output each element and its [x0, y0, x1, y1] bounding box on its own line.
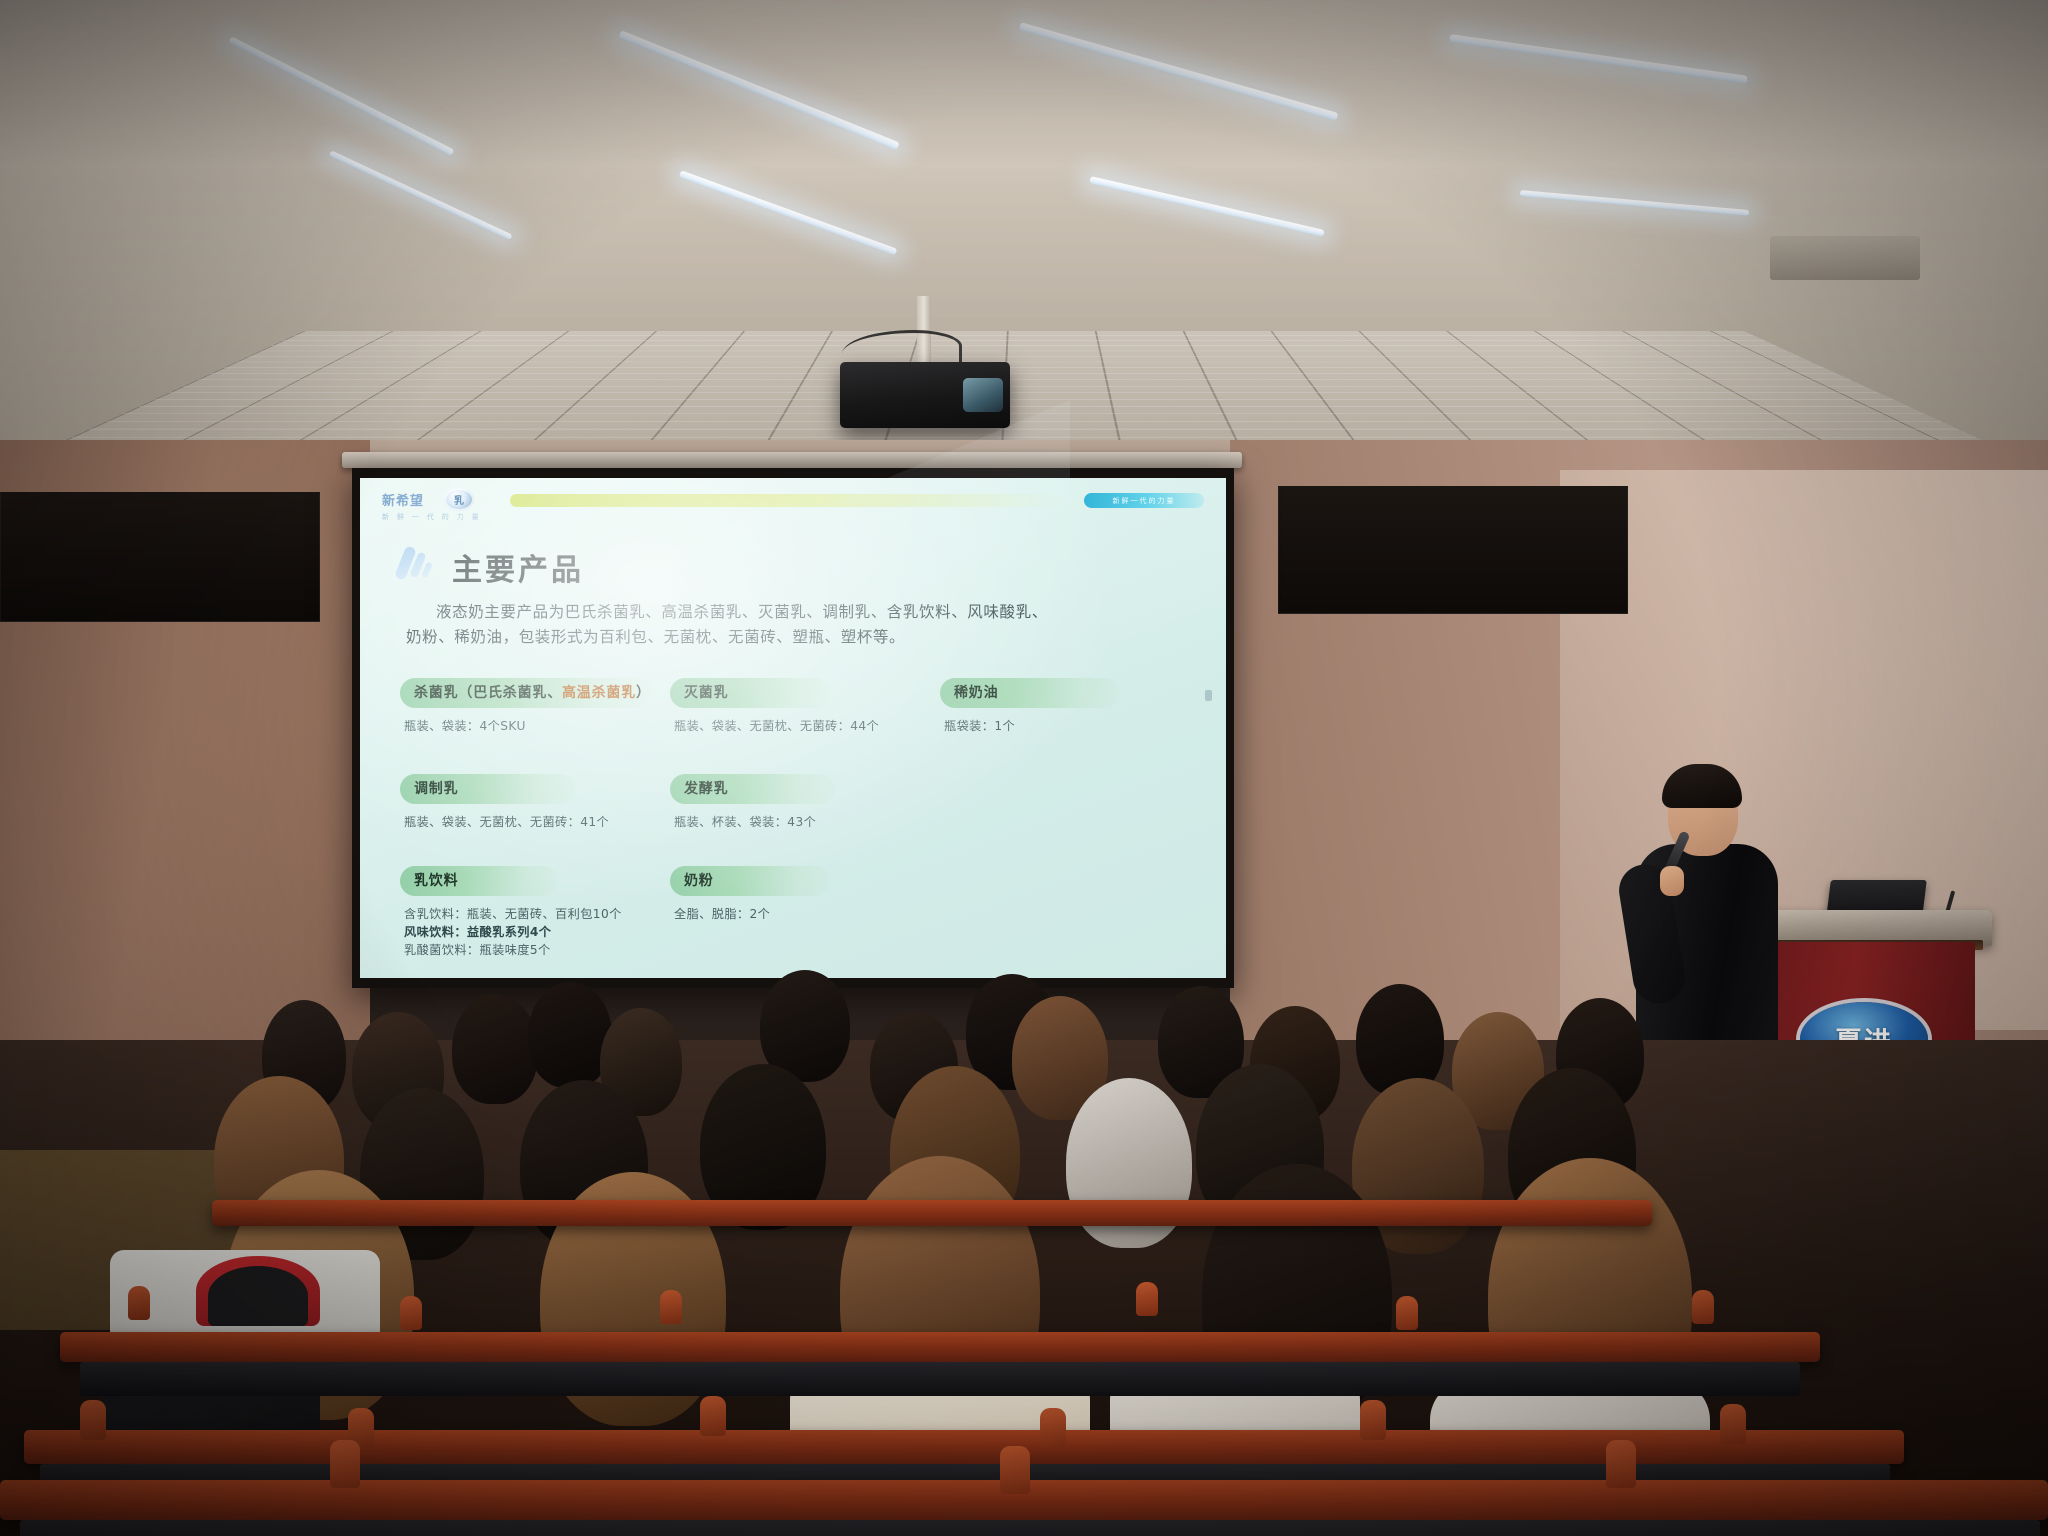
- product-details: 含乳饮料：瓶装、无菌砖、百利包10个 风味饮料：益酸乳系列4个 乳酸菌饮料：瓶装…: [400, 906, 652, 959]
- draped-sweatshirt-hood-inner: [208, 1266, 308, 1326]
- paragraph-line-2: 奶粉、稀奶油，包装形式为百利包、无菌枕、无菌砖、塑瓶、塑杯等。: [406, 628, 905, 646]
- seat-armrest-knob: [1136, 1282, 1158, 1316]
- product-card-uht-milk: 灭菌乳 瓶装、袋装、无菌枕、无菌砖：44个: [670, 678, 920, 736]
- product-detail-line: 瓶装、袋装：4个SKU: [404, 718, 652, 736]
- seat-armrest-knob: [1692, 1290, 1714, 1324]
- seat-armrest-knob: [1606, 1440, 1636, 1488]
- product-chip: 调制乳: [400, 774, 575, 804]
- seat-armrest-knob: [1360, 1400, 1386, 1440]
- seat-armrest-knob: [400, 1296, 422, 1330]
- product-detail-line: 含乳饮料：瓶装、无菌砖、百利包10个: [404, 906, 652, 924]
- product-grid: 杀菌乳（巴氏杀菌乳、高温杀菌乳） 瓶装、袋装：4个SKU 灭菌乳 瓶装、袋装、无…: [400, 678, 1200, 976]
- product-details: 全脂、脱脂：2个: [670, 906, 920, 924]
- product-details: 瓶装、袋装、无菌枕、无菌砖：41个: [400, 814, 652, 832]
- seat-armrest-knob: [1396, 1296, 1418, 1330]
- slide-title-row: 主要产品: [394, 544, 584, 590]
- slide-header-accent-bar: [510, 494, 1070, 507]
- projector-lens: [963, 378, 1003, 412]
- slide-title: 主要产品: [452, 545, 584, 589]
- product-chip: 发酵乳: [670, 774, 835, 804]
- product-detail-line: 瓶装、袋装、无菌枕、无菌砖：44个: [674, 718, 920, 736]
- slide-header-badge: 新鲜一代的力量: [1084, 493, 1204, 508]
- product-detail-line: 瓶装、袋装、无菌枕、无菌砖：41个: [404, 814, 652, 832]
- chip-prefix: 杀菌乳（巴氏杀菌乳、: [414, 685, 562, 701]
- ceiling-shading: [0, 0, 2048, 470]
- seat-row: [60, 1332, 1820, 1362]
- product-chip: 稀奶油: [940, 678, 1120, 708]
- audience-area: [0, 960, 2048, 1536]
- product-detail-line: 瓶袋装：1个: [944, 718, 1190, 736]
- seat-armrest-knob: [660, 1290, 682, 1324]
- brand-roundel-icon: 乳: [444, 488, 474, 511]
- presenter-hand: [1660, 866, 1684, 896]
- product-card-milk-beverage: 乳饮料 含乳饮料：瓶装、无菌砖、百利包10个 风味饮料：益酸乳系列4个 乳酸菌饮…: [400, 866, 652, 959]
- slide-edge-marker: [1205, 690, 1212, 701]
- product-chip: 杀菌乳（巴氏杀菌乳、高温杀菌乳）: [400, 678, 652, 708]
- brand-logo: 新希望 新 鲜 一 代 的 力 量 乳: [382, 488, 502, 528]
- product-card-modified-milk: 调制乳 瓶装、袋装、无菌枕、无菌砖：41个: [400, 774, 652, 832]
- lecture-hall-photo: 新希望 新 鲜 一 代 的 力 量 乳 新鲜一代的力量 主要产品 液态奶主要产品…: [0, 0, 2048, 1536]
- seat-cushion: [20, 1520, 2040, 1536]
- projected-slide: 新希望 新 鲜 一 代 的 力 量 乳 新鲜一代的力量 主要产品 液态奶主要产品…: [360, 478, 1226, 978]
- audience-member: [452, 994, 538, 1104]
- brand-name-cn: 新希望: [382, 490, 424, 509]
- product-card-sterilized-milk: 杀菌乳（巴氏杀菌乳、高温杀菌乳） 瓶装、袋装：4个SKU: [400, 678, 652, 736]
- product-detail-line: 乳酸菌饮料：瓶装味度5个: [404, 942, 652, 960]
- product-card-cream: 稀奶油 瓶袋装：1个: [940, 678, 1190, 736]
- projection-screen-case: [342, 452, 1242, 468]
- paragraph-line-1: 液态奶主要产品为巴氏杀菌乳、高温杀菌乳、灭菌乳、调制乳、含乳饮料、风味酸乳、: [436, 603, 1048, 621]
- product-detail-line: 全脂、脱脂：2个: [674, 906, 920, 924]
- product-chip: 乳饮料: [400, 866, 558, 896]
- seat-armrest-knob: [330, 1440, 360, 1488]
- product-chip: 灭菌乳: [670, 678, 830, 708]
- seat-armrest-knob: [128, 1286, 150, 1320]
- slide-header: 新希望 新 鲜 一 代 的 力 量 乳 新鲜一代的力量: [360, 478, 1226, 532]
- wall-panel-dark-left: [0, 492, 320, 622]
- product-chip: 奶粉: [670, 866, 830, 896]
- wall-panel-dark-right: [1278, 486, 1628, 614]
- slide-paragraph: 液态奶主要产品为巴氏杀菌乳、高温杀菌乳、灭菌乳、调制乳、含乳饮料、风味酸乳、 奶…: [406, 600, 1196, 650]
- product-detail-line: 瓶装、杯装、袋装：43个: [674, 814, 920, 832]
- seat-row-back: [212, 1200, 1652, 1226]
- slide-header-badge-text: 新鲜一代的力量: [1113, 496, 1176, 506]
- chip-highlight: 高温杀菌乳: [562, 685, 636, 701]
- product-details: 瓶装、杯装、袋装：43个: [670, 814, 920, 832]
- seat-armrest-knob: [700, 1396, 726, 1436]
- seat-armrest-knob: [1040, 1408, 1066, 1448]
- chip-suffix: ）: [636, 685, 651, 701]
- product-row-1: 杀菌乳（巴氏杀菌乳、高温杀菌乳） 瓶装、袋装：4个SKU 灭菌乳 瓶装、袋装、无…: [400, 678, 1200, 774]
- product-card-fermented-milk: 发酵乳 瓶装、杯装、袋装：43个: [670, 774, 920, 832]
- product-card-milk-powder: 奶粉 全脂、脱脂：2个: [670, 866, 920, 924]
- title-stripes-icon: [394, 544, 438, 590]
- brand-roundel-text: 乳: [444, 488, 474, 511]
- product-details: 瓶袋装：1个: [940, 718, 1190, 736]
- product-row-2: 调制乳 瓶装、袋装、无菌枕、无菌砖：41个 发酵乳 瓶装、杯装、袋装：43个: [400, 774, 1200, 866]
- product-details: 瓶装、袋装：4个SKU: [400, 718, 652, 736]
- product-detail-line-bold: 风味饮料：益酸乳系列4个: [404, 924, 652, 942]
- seat-armrest-knob: [1000, 1446, 1030, 1494]
- seat-cushion: [80, 1362, 1800, 1396]
- seat-armrest-knob: [1720, 1404, 1746, 1444]
- ceiling: [0, 0, 2048, 470]
- brand-tagline: 新 鲜 一 代 的 力 量: [382, 512, 482, 522]
- presenter-hair: [1662, 764, 1742, 808]
- product-details: 瓶装、袋装、无菌枕、无菌砖：44个: [670, 718, 920, 736]
- ceiling-air-vent: [1770, 236, 1920, 280]
- seat-armrest-knob: [80, 1400, 106, 1440]
